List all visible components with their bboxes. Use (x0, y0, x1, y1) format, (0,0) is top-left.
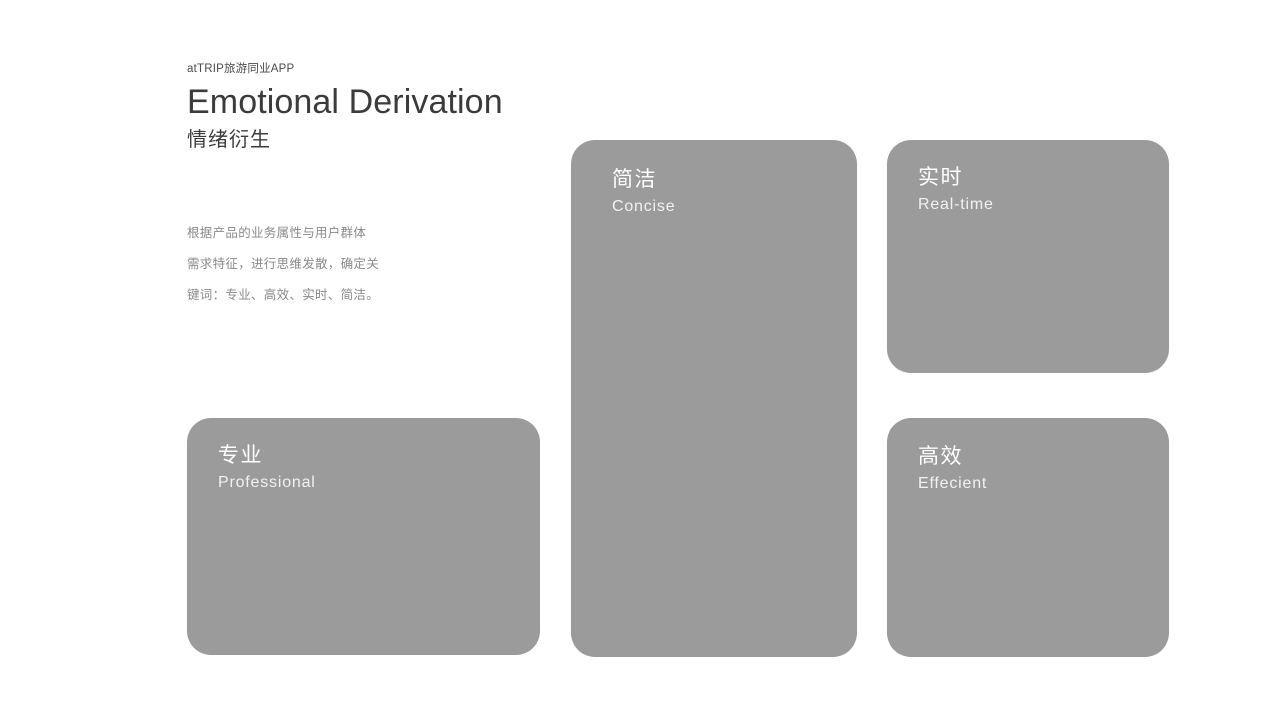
eyebrow-label: atTRIP旅游同业APP (187, 62, 527, 77)
body-copy-line: 需求特征，进行思维发散，确定关 (187, 249, 417, 280)
card-label-en: Professional (218, 472, 316, 494)
card-label-cn: 高效 (918, 443, 987, 471)
body-copy-line: 根据产品的业务属性与用户群体 (187, 218, 417, 249)
body-copy-line: 键词：专业、高效、实时、简洁。 (187, 280, 417, 311)
card-label-group: 专业 Professional (218, 442, 316, 495)
card-label-group: 实时 Real-time (918, 164, 994, 217)
header-block: atTRIP旅游同业APP Emotional Derivation 情绪衍生 (187, 62, 527, 155)
page-subtitle: 情绪衍生 (187, 125, 527, 155)
card-professional[interactable]: 专业 Professional (187, 418, 540, 655)
body-copy: 根据产品的业务属性与用户群体 需求特征，进行思维发散，确定关 键词：专业、高效、… (187, 218, 417, 311)
card-label-cn: 专业 (218, 442, 316, 470)
card-concise[interactable]: 简洁 Concise (571, 140, 857, 657)
card-label-group: 高效 Effecient (918, 443, 987, 496)
card-label-cn: 实时 (918, 164, 994, 192)
card-label-group: 简洁 Concise (612, 166, 675, 219)
card-label-en: Real-time (918, 194, 994, 216)
card-label-en: Concise (612, 196, 675, 218)
card-label-cn: 简洁 (612, 166, 675, 194)
page-title: Emotional Derivation (187, 83, 527, 121)
card-label-en: Effecient (918, 473, 987, 495)
card-realtime[interactable]: 实时 Real-time (887, 140, 1169, 373)
slide-canvas: atTRIP旅游同业APP Emotional Derivation 情绪衍生 … (0, 0, 1280, 720)
card-effecient[interactable]: 高效 Effecient (887, 418, 1169, 657)
